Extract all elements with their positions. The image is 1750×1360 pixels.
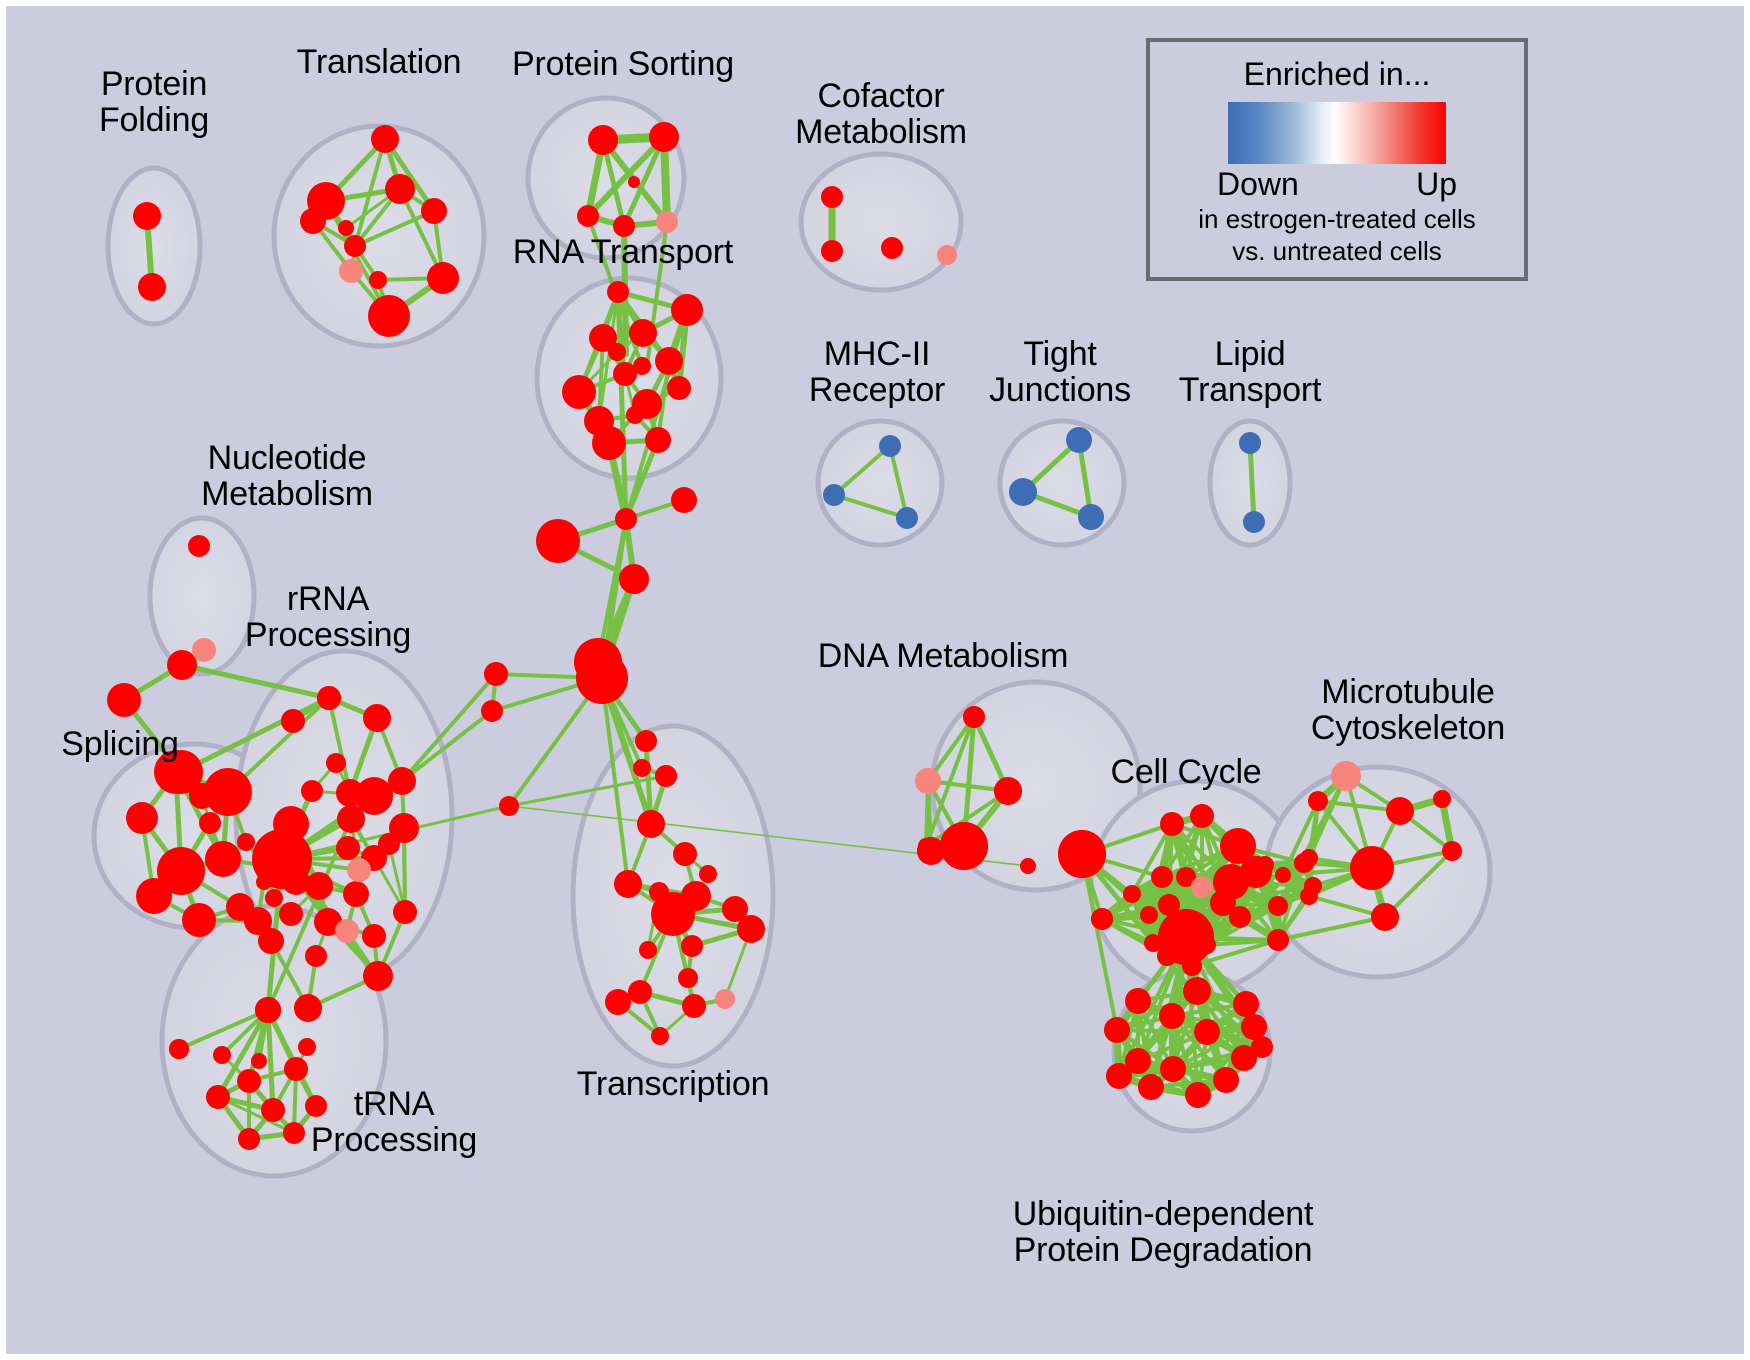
network-node: [635, 730, 657, 752]
label-splicing: Splicing: [61, 726, 178, 762]
legend-high-label: Up: [1416, 166, 1457, 203]
network-node: [1300, 887, 1318, 905]
network-node: [1020, 858, 1036, 874]
network-node: [133, 202, 161, 230]
network-node: [300, 208, 326, 234]
network-node: [605, 989, 631, 1015]
network-node: [199, 812, 221, 834]
network-node: [378, 833, 400, 855]
network-node: [673, 842, 697, 866]
network-node: [484, 662, 508, 686]
network-node: [682, 994, 706, 1018]
network-node: [649, 122, 679, 152]
network-node: [205, 841, 241, 877]
network-node: [368, 295, 410, 337]
network-node: [1386, 797, 1414, 825]
network-node: [317, 686, 341, 710]
network-node: [821, 240, 843, 262]
network-node: [722, 896, 748, 922]
label-nucleotide-metabolism: Nucleotide Metabolism: [201, 440, 373, 512]
network-node: [362, 924, 386, 948]
network-node: [656, 211, 678, 233]
network-node: [1066, 427, 1092, 453]
network-node: [1198, 936, 1216, 954]
network-node: [261, 1098, 285, 1122]
network-node: [1125, 988, 1151, 1014]
network-node: [1275, 867, 1291, 883]
network-node: [1239, 432, 1261, 454]
label-protein-sorting: Protein Sorting: [512, 46, 734, 82]
network-node: [577, 205, 599, 227]
network-node: [915, 768, 941, 794]
network-node: [421, 198, 447, 224]
network-node: [917, 837, 945, 865]
network-node: [562, 375, 596, 409]
network-node: [369, 271, 387, 289]
network-node: [213, 1046, 231, 1064]
network-node: [667, 376, 691, 400]
network-node: [1233, 991, 1259, 1017]
network-node: [1350, 846, 1394, 890]
network-node: [256, 874, 272, 890]
legend-box: Enriched in... Down Up in estrogen-treat…: [1146, 38, 1528, 281]
label-dna-metabolism: DNA Metabolism: [818, 638, 1068, 674]
network-node: [1194, 1019, 1220, 1045]
network-node: [1213, 1067, 1239, 1093]
label-mhc-ii-receptor: MHC-II Receptor: [809, 336, 945, 408]
label-cell-cycle: Cell Cycle: [1110, 754, 1261, 790]
label-rrna-processing: rRNA Processing: [245, 581, 411, 653]
network-node: [136, 878, 172, 914]
network-node: [189, 783, 215, 809]
network-node: [628, 176, 640, 188]
network-node: [337, 805, 365, 833]
network-node: [1268, 896, 1288, 916]
label-tight-junctions: Tight Junctions: [989, 336, 1131, 408]
network-node: [1151, 866, 1173, 888]
network-node: [671, 487, 697, 513]
network-node: [169, 1039, 189, 1059]
network-node: [1091, 908, 1113, 930]
network-node: [1078, 504, 1104, 530]
network-node: [651, 892, 695, 936]
network-node: [1256, 856, 1274, 874]
legend-low-label: Down: [1217, 166, 1299, 203]
network-node: [363, 704, 391, 732]
network-node: [182, 903, 216, 937]
network-node: [385, 174, 415, 204]
network-node: [237, 833, 255, 851]
network-node: [881, 237, 903, 259]
network-node: [1104, 1017, 1130, 1043]
network-node: [298, 1038, 316, 1056]
network-node: [255, 997, 281, 1023]
label-protein-folding: Protein Folding: [99, 66, 209, 138]
network-node: [626, 406, 644, 424]
network-node: [1371, 903, 1399, 931]
network-node: [637, 810, 665, 838]
network-node: [251, 1053, 267, 1069]
network-node: [629, 319, 657, 347]
cluster-hull: [818, 421, 942, 545]
network-node: [619, 564, 649, 594]
network-node: [536, 519, 580, 563]
network-node: [338, 220, 354, 236]
network-node: [188, 535, 210, 557]
network-node: [301, 780, 323, 802]
network-node: [1267, 929, 1289, 951]
network-node: [994, 777, 1022, 805]
network-node: [481, 700, 503, 722]
network-node: [1229, 906, 1251, 928]
network-node: [614, 870, 642, 898]
network-node: [823, 484, 845, 506]
network-node: [305, 945, 327, 967]
network-node: [283, 1122, 305, 1144]
network-node: [576, 652, 628, 704]
network-node: [388, 767, 416, 795]
network-node: [336, 836, 360, 860]
label-translation: Translation: [297, 44, 462, 80]
label-ubiquitin-degradation: Ubiquitin-dependent Protein Degradation: [1013, 1196, 1314, 1268]
network-node: [1144, 934, 1162, 952]
network-node: [639, 941, 657, 959]
network-node: [896, 507, 918, 529]
network-node: [1106, 1063, 1132, 1089]
network-node: [335, 919, 359, 943]
network-node: [608, 343, 626, 361]
network-node: [940, 822, 988, 870]
network-node: [343, 881, 369, 907]
network-node: [344, 235, 366, 257]
network-figure: Protein Folding Translation Protein Sort…: [0, 0, 1750, 1360]
label-cofactor-metabolism: Cofactor Metabolism: [795, 78, 967, 150]
network-node: [1331, 761, 1361, 791]
legend-color-bar: [1228, 102, 1446, 164]
network-node: [138, 273, 166, 301]
network-node: [1159, 1003, 1185, 1029]
network-node: [326, 753, 346, 773]
legend-caption-line1: in estrogen-treated cells: [1198, 205, 1475, 235]
network-node: [1185, 1082, 1211, 1108]
network-node: [1140, 906, 1158, 924]
network-node: [592, 426, 626, 460]
network-node: [237, 1069, 261, 1093]
network-node: [363, 961, 393, 991]
network-node: [281, 709, 305, 733]
network-node: [715, 989, 735, 1009]
legend-caption-line2: vs. untreated cells: [1232, 237, 1442, 267]
network-node: [1123, 885, 1141, 903]
network-node: [633, 759, 651, 777]
network-node: [258, 928, 284, 954]
network-node: [1300, 849, 1318, 867]
network-node: [126, 802, 158, 834]
network-node: [294, 994, 322, 1022]
network-node: [607, 281, 629, 303]
network-node: [645, 427, 671, 453]
network-node: [1058, 830, 1106, 878]
network-node: [1243, 511, 1265, 533]
network-node: [1160, 1056, 1186, 1082]
network-node: [1138, 1074, 1164, 1100]
network-node: [107, 683, 141, 717]
network-node: [879, 435, 901, 457]
network-node: [681, 935, 703, 957]
label-lipid-transport: Lipid Transport: [1179, 336, 1321, 408]
network-node: [265, 889, 283, 907]
label-microtubule-cytoskeleton: Microtubule Cytoskeleton: [1311, 674, 1505, 746]
network-node: [167, 650, 197, 680]
network-node: [937, 245, 957, 265]
network-node: [628, 980, 652, 1004]
network-node: [1183, 977, 1211, 1005]
network-node: [671, 294, 703, 326]
network-node: [1308, 791, 1328, 811]
label-transcription: Transcription: [577, 1066, 770, 1102]
network-node: [206, 1085, 230, 1109]
network-node: [238, 1128, 260, 1150]
network-node: [1160, 812, 1184, 836]
network-node: [1433, 790, 1451, 808]
label-trna-processing: tRNA Processing: [311, 1086, 477, 1158]
network-node: [1191, 876, 1213, 898]
network-node: [588, 125, 618, 155]
network-node: [821, 186, 843, 208]
network-node: [371, 125, 399, 153]
network-node: [1442, 841, 1462, 861]
label-rna-transport: RNA Transport: [513, 234, 733, 270]
network-node: [963, 706, 985, 728]
network-node: [192, 638, 216, 662]
network-node: [1182, 956, 1202, 976]
network-node: [279, 902, 303, 926]
cluster-hull: [801, 154, 961, 290]
legend-title: Enriched in...: [1244, 56, 1431, 93]
network-node: [613, 362, 637, 386]
network-node: [336, 779, 364, 807]
network-node: [1251, 1036, 1273, 1058]
network-node: [655, 765, 677, 787]
network-node: [339, 259, 363, 283]
network-node: [1157, 946, 1177, 966]
network-node: [305, 872, 333, 900]
network-node: [427, 262, 459, 294]
network-node: [699, 865, 717, 883]
network-node: [284, 1057, 308, 1081]
network-node: [651, 1027, 669, 1045]
network-node: [1009, 478, 1037, 506]
network-node: [655, 347, 683, 375]
network-node: [678, 968, 698, 988]
network-node: [347, 858, 371, 882]
network-node: [1190, 804, 1214, 828]
network-node: [615, 508, 637, 530]
network-node: [393, 900, 417, 924]
network-node: [499, 796, 519, 816]
